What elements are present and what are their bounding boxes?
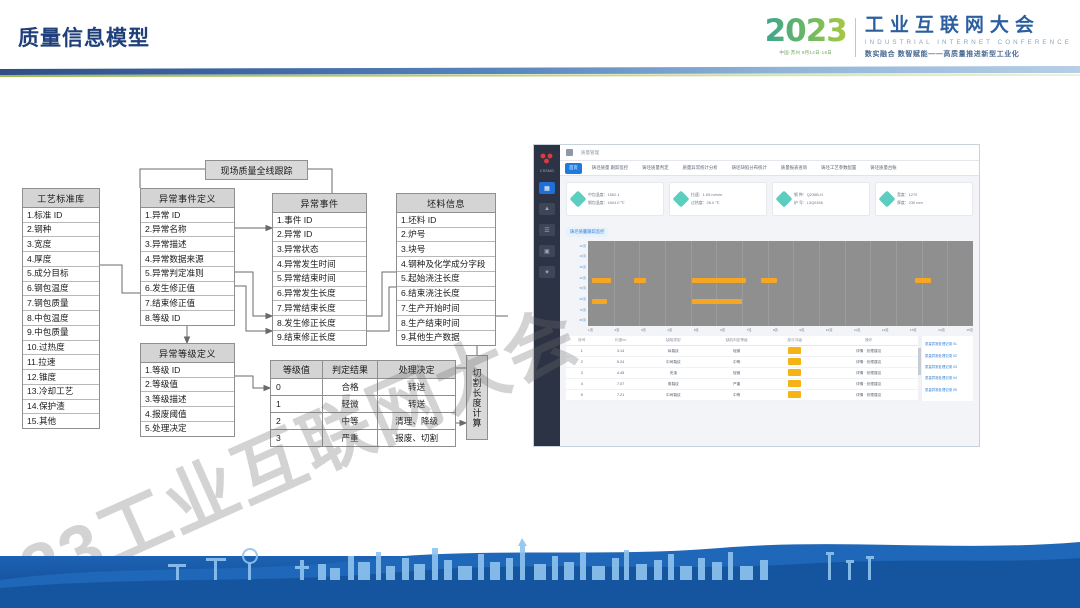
box-row: 1.事件 ID xyxy=(273,213,366,228)
gantt-gridline xyxy=(922,241,923,326)
tab-quality-judgement[interactable]: 铸坯质量判定 xyxy=(638,163,672,174)
cell-result: 严重 xyxy=(322,430,378,447)
box-row: 7.结束修正值 xyxy=(141,296,234,311)
box-row: 6.异常发生长度 xyxy=(273,287,366,302)
cube-icon xyxy=(776,191,793,208)
cell-actions[interactable]: 详情 · 处理建议 xyxy=(819,382,918,387)
box-row: 2.钢种 xyxy=(23,223,99,238)
cell-defect-level: 严重 xyxy=(703,382,770,387)
sidebar-item-chart[interactable]: ▣ xyxy=(539,245,555,257)
slide-root: 质量信息模型 2023 中国·苏州 9月14日-16日 工业互联网大会 INDU… xyxy=(0,0,1080,608)
box-title: 坯料信息 xyxy=(397,194,495,213)
cell-level: 0 xyxy=(271,379,323,396)
cell-defect-type: 中间裂纹 xyxy=(643,360,703,365)
header-divider-blue xyxy=(0,66,1080,75)
box-row: 4.异常发生时间 xyxy=(273,257,366,272)
cell-rating-badge xyxy=(770,369,819,377)
cell-result: 合格 xyxy=(322,379,378,396)
box-row: 9.中包质量 xyxy=(23,326,99,341)
table-header-row: 等级值 判定结果 处理决定 xyxy=(271,361,456,379)
gantt-chart: 1#流 2#流 3#流 4#流 5#流 6#流 7#流 8#流 xyxy=(566,241,973,326)
gantt-gridline xyxy=(691,241,692,326)
gantt-x-tick: 7流 xyxy=(747,327,752,332)
cell-length: 3.14 xyxy=(598,349,644,353)
gantt-y-tick: 4#流 xyxy=(579,277,586,280)
gantt-x-tick: 10流 xyxy=(826,327,833,332)
box-row: 14.保护渣 xyxy=(23,400,99,415)
kpi-card: 钢 种：Q235B-H 炉 号：L3Q0156 xyxy=(772,182,870,216)
diagram-box-standard: 工艺标准库 1.标准 ID 2.钢种 3.宽度 4.厚度 5.成分目标 6.钢包… xyxy=(22,188,100,429)
table-row: 2 中等 清理、降级 xyxy=(271,413,456,430)
table-scrollbar[interactable] xyxy=(918,336,921,401)
gantt-bar[interactable] xyxy=(592,299,607,304)
record-link[interactable]: 质量异常处理记录 05 xyxy=(924,384,971,395)
box-row: 3.块号 xyxy=(397,242,495,257)
box-row: 1.异常 ID xyxy=(141,208,234,223)
gantt-gridline xyxy=(896,241,897,326)
recent-records-panel: 质量异常处理记录 01 质量异常处理记录 02 质量异常处理记录 03 质量异常… xyxy=(921,336,973,401)
cell-actions[interactable]: 详情 · 处理建议 xyxy=(819,371,918,376)
diagram-box-level-definition: 异常等级定义 1.等级 ID 2.等级值 3.等级描述 4.报废阈值 5.处理决… xyxy=(140,343,235,437)
box-title: 异常等级定义 xyxy=(141,344,234,363)
column-header: 处理决定 xyxy=(378,361,456,379)
column-header: 判定结果 xyxy=(322,361,378,379)
cube-icon xyxy=(673,191,690,208)
box-row: 2.炉号 xyxy=(397,228,495,243)
table-row[interactable]: 3 4.45 夹渣 轻微 详情 · 处理建议 xyxy=(566,368,918,379)
cell-action: 转送 xyxy=(378,396,456,413)
box-row: 8.中包温度 xyxy=(23,311,99,326)
dashboard-tabs: 首页 铸坯质量 跟踪监控 铸坯质量判定 质量异常统计分析 铸坯缺陷分布统计 质量… xyxy=(560,161,979,176)
status-badge xyxy=(788,369,801,376)
diagram-label-track: 现场质量全线跟踪 xyxy=(205,160,308,180)
cell-defect-type: 角裂纹 xyxy=(643,382,703,387)
app-logo-icon xyxy=(537,151,557,167)
cell-index: 3 xyxy=(566,371,598,375)
box-row: 1.标准 ID xyxy=(23,208,99,223)
conference-logo: 2023 中国·苏州 9月14日-16日 工业互联网大会 INDUSTRIAL … xyxy=(765,16,1072,59)
menu-icon[interactable] xyxy=(566,149,573,156)
kpi-card: 中包温度：1562.1 钢包温度：1604.0 ℃ xyxy=(566,182,664,216)
conference-slogan: 数实融合 数智赋能——高质量推进新型工业化 xyxy=(865,49,1072,59)
gantt-x-tick: 12流 xyxy=(882,327,889,332)
table-header-row: 序号 长度/m 缺陷类型 缺陷判定等级 部分评级 操作 xyxy=(566,336,918,346)
gantt-y-tick: 3#流 xyxy=(579,266,586,269)
gantt-x-axis: 1流 2流 3流 4流 5流 6流 7流 8流 9流 10流 11流 12流 1… xyxy=(588,327,973,332)
cell-defect-level: 轻微 xyxy=(703,349,770,354)
status-badge xyxy=(788,358,801,365)
box-row: 4.钢种及化学成分字段 xyxy=(397,257,495,272)
cell-defect-level: 轻微 xyxy=(703,371,770,376)
sidebar-item-factory[interactable]: ▲ xyxy=(539,203,555,215)
column-header: 缺陷判定等级 xyxy=(703,338,770,343)
box-row: 9.其他生产数据 xyxy=(397,331,495,345)
conference-name-cn: 工业互联网大会 xyxy=(865,16,1072,36)
gantt-gridline xyxy=(870,241,871,326)
cell-defect-level: 中等 xyxy=(703,393,770,398)
box-row: 5.处理决定 xyxy=(141,422,234,436)
box-title: 工艺标准库 xyxy=(23,189,99,208)
box-row: 4.厚度 xyxy=(23,252,99,267)
gantt-y-tick: 5#流 xyxy=(579,287,586,290)
cell-defect-type: 中间裂纹 xyxy=(643,393,703,398)
diagram-box-billet: 坯料信息 1.坯料 ID 2.炉号 3.块号 4.钢种及化学成分字段 5.起始浇… xyxy=(396,193,496,346)
box-row: 7.生产开始时间 xyxy=(397,301,495,316)
kpi-card-row: 中包温度：1562.1 钢包温度：1604.0 ℃ 拉速：1.05 m/min … xyxy=(560,176,979,220)
cell-rating-badge xyxy=(770,347,819,355)
cell-rating-badge xyxy=(770,358,819,366)
cell-rating-badge xyxy=(770,391,819,399)
kpi-line-2: 钢包温度：1604.0 ℃ xyxy=(588,200,625,206)
breadcrumb: 质量管理 xyxy=(581,150,599,156)
gantt-y-axis: 1#流 2#流 3#流 4#流 5#流 6#流 7#流 8#流 xyxy=(566,241,588,326)
box-row: 3.宽度 xyxy=(23,237,99,252)
box-row: 5.起始浇注长度 xyxy=(397,272,495,287)
table-row: 1 轻微 转送 xyxy=(271,396,456,413)
kpi-card: 宽度：1270 厚度：230 mm xyxy=(875,182,973,216)
kpi-line-2: 过热度：26.0 ℃ xyxy=(691,200,722,206)
defect-table-body: 序号 长度/m 缺陷类型 缺陷判定等级 部分评级 操作 1 3.14 纵裂纹 轻… xyxy=(566,336,918,401)
tab-anomaly-stats[interactable]: 质量异常统计分析 xyxy=(679,163,722,174)
tab-quality-tracking[interactable]: 铸坯质量 跟踪监控 xyxy=(588,163,632,174)
gantt-bar[interactable] xyxy=(761,278,776,283)
status-badge xyxy=(788,391,801,398)
gantt-gridline xyxy=(639,241,640,326)
box-title: 异常事件定义 xyxy=(141,189,234,208)
gantt-x-tick: 13流 xyxy=(910,327,917,332)
gantt-y-tick: 7#流 xyxy=(579,309,586,312)
cell-length: 7.21 xyxy=(598,393,644,397)
kpi-line-1: 拉速：1.05 m/min xyxy=(691,192,722,198)
table-row[interactable]: 4 7.07 角裂纹 严重 详情 · 处理建议 xyxy=(566,379,918,390)
cube-icon xyxy=(570,191,587,208)
tab-home[interactable]: 首页 xyxy=(565,163,582,174)
page-title: 质量信息模型 xyxy=(18,22,150,52)
defect-table: 序号 长度/m 缺陷类型 缺陷判定等级 部分评级 操作 1 3.14 纵裂纹 轻… xyxy=(566,336,973,401)
box-row: 4.报废阈值 xyxy=(141,407,234,422)
box-row: 15.其他 xyxy=(23,414,99,428)
record-link[interactable]: 质量异常处理记录 01 xyxy=(924,338,971,349)
box-row: 2.等级值 xyxy=(141,378,234,393)
box-row: 7.异常结束长度 xyxy=(273,301,366,316)
column-header: 等级值 xyxy=(271,361,323,379)
tab-quality-ledger[interactable]: 铸坯质量台账 xyxy=(866,163,900,174)
box-row: 6.钢包温度 xyxy=(23,282,99,297)
kpi-line-1: 宽度：1270 xyxy=(897,192,923,198)
box-row: 1.等级 ID xyxy=(141,363,234,378)
gantt-bar[interactable] xyxy=(915,278,930,283)
diagram-box-event-definition: 异常事件定义 1.异常 ID 2.异常名称 3.异常描述 4.异常数据来源 5.… xyxy=(140,188,235,326)
box-title: 异常事件 xyxy=(273,194,366,213)
gantt-gridline xyxy=(768,241,769,326)
cell-defect-type: 夹渣 xyxy=(643,371,703,376)
gantt-x-tick: 6流 xyxy=(720,327,725,332)
cell-index: 4 xyxy=(566,382,598,386)
kpi-card: 拉速：1.05 m/min 过热度：26.0 ℃ xyxy=(669,182,767,216)
record-link[interactable]: 质量异常处理记录 03 xyxy=(924,361,971,372)
conference-name-en: INDUSTRIAL INTERNET CONFERENCE xyxy=(865,39,1072,46)
cell-level: 2 xyxy=(271,413,323,430)
box-row: 5.异常判定准则 xyxy=(141,267,234,282)
box-row: 9.结束修正长度 xyxy=(273,331,366,345)
kpi-line-2: 炉 号：L3Q0156 xyxy=(794,200,823,206)
box-row: 13.冷却工艺 xyxy=(23,385,99,400)
section-title: 铸坯质量跟踪监控 xyxy=(566,227,608,237)
table-row[interactable]: 2 5.24 中间裂纹 中等 详情 · 处理建议 xyxy=(566,357,918,368)
app-brand-label: CSSMG xyxy=(534,169,560,173)
table-row[interactable]: 5 7.21 中间裂纹 中等 详情 · 处理建议 xyxy=(566,390,918,401)
cube-icon xyxy=(879,191,896,208)
cell-index: 2 xyxy=(566,360,598,364)
box-row: 3.异常状态 xyxy=(273,242,366,257)
tab-defect-distribution[interactable]: 铸坯缺陷分布统计 xyxy=(728,163,771,174)
column-header: 缺陷类型 xyxy=(643,338,703,343)
column-header: 序号 xyxy=(566,338,598,343)
logo-year: 2023 xyxy=(765,16,847,47)
column-header: 部分评级 xyxy=(770,338,819,343)
gantt-y-tick: 6#流 xyxy=(579,298,586,301)
gantt-y-tick: 8#流 xyxy=(579,319,586,322)
cell-length: 7.07 xyxy=(598,382,644,386)
box-row: 8.等级 ID xyxy=(141,311,234,325)
gantt-x-tick: 3流 xyxy=(641,327,646,332)
column-header: 操作 xyxy=(819,338,918,343)
record-link[interactable]: 质量异常处理记录 02 xyxy=(924,349,971,360)
box-row: 2.异常名称 xyxy=(141,223,234,238)
gantt-gridline xyxy=(716,241,717,326)
cell-level: 1 xyxy=(271,396,323,413)
gantt-bar[interactable] xyxy=(692,299,742,304)
gantt-gridline xyxy=(819,241,820,326)
sidebar-item-gear[interactable]: ✷ xyxy=(539,266,555,278)
box-row: 11.拉速 xyxy=(23,355,99,370)
gantt-x-tick: 4流 xyxy=(667,327,672,332)
table-row[interactable]: 1 3.14 纵裂纹 轻微 详情 · 处理建议 xyxy=(566,346,918,357)
box-row: 8.生产结束时间 xyxy=(397,316,495,331)
box-row: 5.异常结束时间 xyxy=(273,272,366,287)
cell-actions[interactable]: 详情 · 处理建议 xyxy=(819,393,918,398)
box-row: 2.异常 ID xyxy=(273,228,366,243)
column-header: 长度/m xyxy=(598,338,644,343)
kpi-line-2: 厚度：230 mm xyxy=(897,200,923,206)
record-link[interactable]: 质量异常处理记录 04 xyxy=(924,372,971,383)
gantt-x-tick: 2流 xyxy=(614,327,619,332)
cell-action: 报废、切割 xyxy=(378,430,456,447)
gantt-x-tick: 8流 xyxy=(773,327,778,332)
slide-footer xyxy=(0,508,1080,608)
gantt-gridline xyxy=(845,241,846,326)
gantt-x-tick: 11流 xyxy=(854,327,860,332)
gantt-y-tick: 1#流 xyxy=(579,245,586,248)
gantt-x-tick: 15流 xyxy=(966,327,973,332)
logo-text-block: 工业互联网大会 INDUSTRIAL INTERNET CONFERENCE 数… xyxy=(865,16,1072,59)
cell-length: 5.24 xyxy=(598,360,644,364)
kpi-line-1: 钢 种：Q235B-H xyxy=(794,192,823,198)
box-row: 7.钢包质量 xyxy=(23,296,99,311)
status-badge xyxy=(788,347,801,354)
gantt-bar[interactable] xyxy=(692,278,746,283)
gantt-gridline xyxy=(947,241,948,326)
box-row: 6.结束浇注长度 xyxy=(397,287,495,302)
box-row: 3.等级描述 xyxy=(141,392,234,407)
cell-result: 中等 xyxy=(322,413,378,430)
cell-level: 3 xyxy=(271,430,323,447)
dashboard-sidebar: CSSMG ▦ ▲ ☰ ▣ ✷ xyxy=(534,145,560,446)
gantt-gridline xyxy=(793,241,794,326)
gantt-bar[interactable] xyxy=(592,278,611,283)
status-badge xyxy=(788,380,801,387)
cell-rating-badge xyxy=(770,380,819,388)
gantt-gridline xyxy=(614,241,615,326)
gantt-x-tick: 5流 xyxy=(694,327,699,332)
cell-action: 清理、降级 xyxy=(378,413,456,430)
gantt-plot-area[interactable] xyxy=(588,241,973,326)
dashboard-screenshot: CSSMG ▦ ▲ ☰ ▣ ✷ 质量管理 首页 铸坯质量 跟踪监控 铸坯质量判定… xyxy=(533,144,980,447)
table-row: 0 合格 转送 xyxy=(271,379,456,396)
dashboard-main: 质量管理 首页 铸坯质量 跟踪监控 铸坯质量判定 质量异常统计分析 铸坯缺陷分布… xyxy=(560,145,979,446)
box-row: 5.成分目标 xyxy=(23,267,99,282)
gantt-x-tick: 14流 xyxy=(938,327,945,332)
gantt-y-tick: 2#流 xyxy=(579,255,586,258)
cell-result: 轻微 xyxy=(322,396,378,413)
box-row: 6.发生修正值 xyxy=(141,282,234,297)
cell-index: 5 xyxy=(566,393,598,397)
box-row: 1.坯料 ID xyxy=(397,213,495,228)
box-row: 8.发生修正长度 xyxy=(273,316,366,331)
gantt-gridline xyxy=(742,241,743,326)
logo-divider xyxy=(855,18,856,57)
logo-year-subtitle: 中国·苏州 9月14日-16日 xyxy=(765,50,847,56)
cell-action: 转送 xyxy=(378,379,456,396)
cell-index: 1 xyxy=(566,349,598,353)
cell-defect-level: 中等 xyxy=(703,360,770,365)
box-row: 4.异常数据来源 xyxy=(141,252,234,267)
gantt-gridline xyxy=(665,241,666,326)
logo-year-block: 2023 中国·苏州 9月14日-16日 xyxy=(765,16,855,56)
box-row: 3.异常描述 xyxy=(141,237,234,252)
sidebar-item-grid[interactable]: ▦ xyxy=(539,182,555,194)
footer-skyline xyxy=(0,508,1080,608)
cell-actions[interactable]: 详情 · 处理建议 xyxy=(819,360,918,365)
diagram-box-event: 异常事件 1.事件 ID 2.异常 ID 3.异常状态 4.异常发生时间 5.异… xyxy=(272,193,367,346)
gantt-x-tick: 1流 xyxy=(588,327,593,332)
sidebar-item-list[interactable]: ☰ xyxy=(539,224,555,236)
box-row: 12.锥度 xyxy=(23,370,99,385)
gantt-x-tick: 9流 xyxy=(799,327,804,332)
box-row: 10.过热度 xyxy=(23,341,99,356)
entity-diagram: 现场质量全线跟踪 工艺标准库 1.标准 ID 2.钢种 3.宽度 4.厚度 5.… xyxy=(0,120,540,470)
cell-defect-type: 纵裂纹 xyxy=(643,349,703,354)
tab-process-config[interactable]: 铸坯工艺参数配置 xyxy=(817,163,860,174)
decision-table: 等级值 判定结果 处理决定 0 合格 转送 1 轻微 转送 2 中等 清理、降级… xyxy=(270,360,456,447)
kpi-line-1: 中包温度：1562.1 xyxy=(588,192,625,198)
cell-length: 4.45 xyxy=(598,371,644,375)
tab-quality-report[interactable]: 质量报表查询 xyxy=(777,163,811,174)
cell-actions[interactable]: 详情 · 处理建议 xyxy=(819,349,918,354)
dashboard-topbar: 质量管理 xyxy=(560,145,979,161)
table-row: 3 严重 报废、切割 xyxy=(271,430,456,447)
gantt-bar[interactable] xyxy=(634,278,646,283)
diagram-box-cut-length: 切割长度计算 xyxy=(466,355,488,440)
